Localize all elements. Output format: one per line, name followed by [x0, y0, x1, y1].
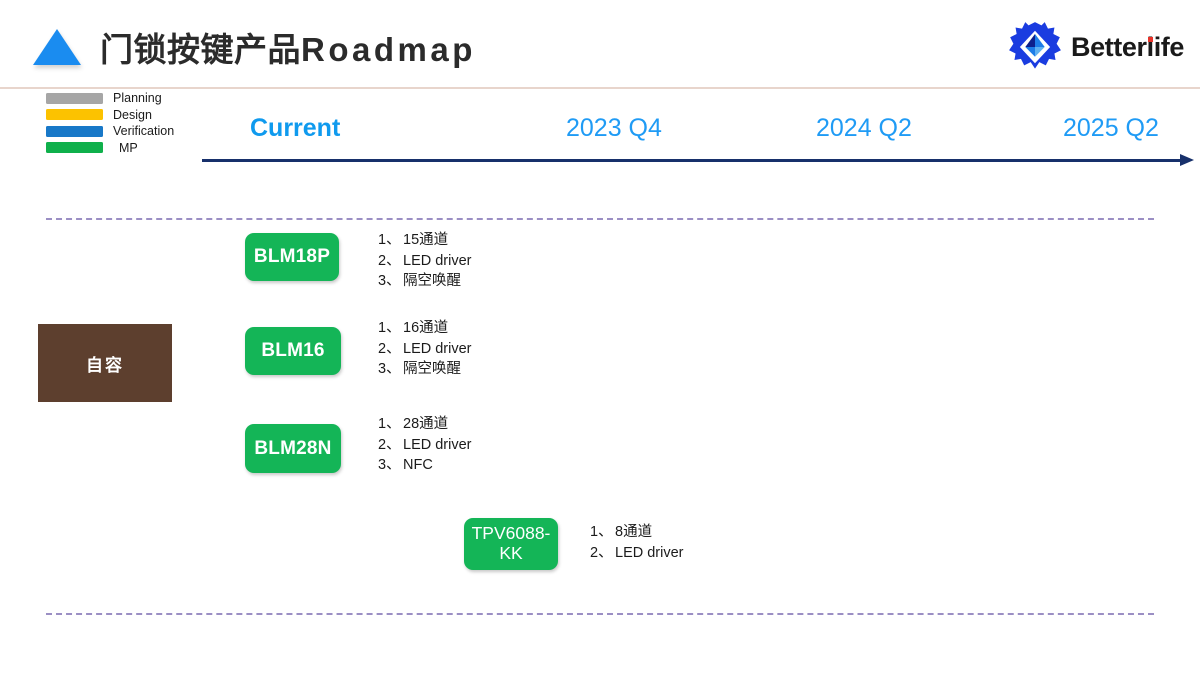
header-divider	[0, 87, 1200, 89]
feature-number: 2、	[378, 435, 403, 456]
brand-name-text: Betterlife	[1071, 32, 1184, 62]
feature-number: 1、	[378, 230, 403, 251]
feature-item: 1、16通道	[378, 318, 472, 339]
product-features-tpv6088-kk: 1、8通道2、LED driver	[590, 522, 684, 563]
feature-item: 2、LED driver	[378, 339, 472, 360]
feature-item: 2、LED driver	[378, 435, 472, 456]
feature-number: 1、	[378, 414, 403, 435]
feature-text: 28通道	[403, 416, 448, 432]
product-features-blm16: 1、16通道2、LED driver3、隔空唤醒	[378, 318, 472, 380]
product-features-blm18p: 1、15通道2、LED driver3、隔空唤醒	[378, 230, 472, 292]
feature-text: LED driver	[615, 545, 684, 561]
feature-item: 3、NFC	[378, 455, 472, 476]
timeline-label-2023-q4: 2023 Q4	[566, 114, 662, 143]
product-box-blm28n[interactable]: BLM28N	[245, 424, 341, 473]
category-label: 自容	[86, 351, 124, 376]
page-title: 门锁按键产品Roadmap	[100, 23, 476, 71]
roadmap-slide: 门锁按键产品Roadmap Betterlife Planning	[0, 0, 1200, 675]
feature-number: 3、	[378, 455, 403, 476]
page-title-cjk: 门锁按键产品	[100, 31, 301, 68]
row-separator-2	[46, 613, 1154, 615]
feature-item: 2、LED driver	[378, 251, 472, 272]
feature-number: 3、	[378, 359, 403, 380]
feature-item: 1、8通道	[590, 522, 684, 543]
product-box-blm18p[interactable]: BLM18P	[245, 233, 339, 281]
feature-text: LED driver	[403, 341, 472, 357]
timeline-arrow-icon	[1180, 154, 1194, 166]
feature-number: 3、	[378, 271, 403, 292]
slide-header: 门锁按键产品Roadmap Betterlife	[0, 0, 1200, 88]
feature-text: 16通道	[403, 320, 448, 336]
feature-number: 1、	[378, 318, 403, 339]
triangle-up-icon	[33, 29, 81, 65]
brand-name: Betterlife	[1071, 32, 1184, 63]
feature-text: 隔空唤醒	[403, 273, 461, 289]
timeline-axis-group: Current2023 Q42024 Q22025 Q2	[0, 100, 1200, 170]
feature-number: 2、	[378, 251, 403, 272]
timeline-label-2024-q2: 2024 Q2	[816, 114, 912, 143]
row-separator-1	[46, 218, 1154, 220]
feature-text: 隔空唤醒	[403, 361, 461, 377]
feature-text: LED driver	[403, 253, 472, 269]
feature-number: 2、	[590, 543, 615, 564]
feature-item: 3、隔空唤醒	[378, 359, 472, 380]
feature-number: 1、	[590, 522, 615, 543]
feature-item: 1、15通道	[378, 230, 472, 251]
diamond-logo-icon	[1008, 20, 1062, 74]
feature-item: 3、隔空唤醒	[378, 271, 472, 292]
product-box-tpv6088-kk[interactable]: TPV6088-KK	[464, 518, 558, 570]
timeline-label-current: Current	[250, 114, 340, 143]
product-box-blm16[interactable]: BLM16	[245, 327, 341, 375]
feature-text: NFC	[403, 457, 433, 473]
product-features-blm28n: 1、28通道2、LED driver3、NFC	[378, 414, 472, 476]
timeline-line	[202, 159, 1182, 162]
feature-text: 15通道	[403, 232, 448, 248]
timeline-label-2025-q2: 2025 Q2	[1063, 114, 1159, 143]
category-box-selfcap: 自容	[38, 324, 172, 402]
feature-text: 8通道	[615, 524, 652, 540]
page-title-latin: Roadmap	[301, 31, 476, 68]
feature-item: 1、28通道	[378, 414, 472, 435]
feature-number: 2、	[378, 339, 403, 360]
feature-text: LED driver	[403, 437, 472, 453]
brand-logo: Betterlife	[1008, 20, 1184, 74]
feature-item: 2、LED driver	[590, 543, 684, 564]
brand-accent-dot-icon	[1148, 37, 1153, 42]
